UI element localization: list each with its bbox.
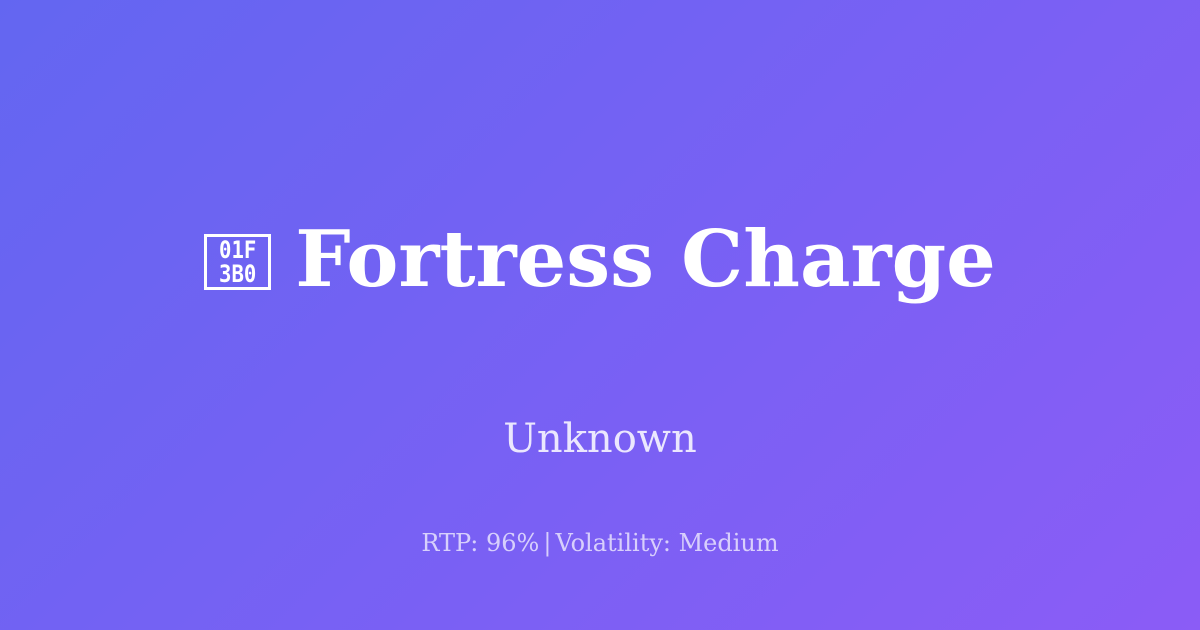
page-title: Fortress Charge <box>295 219 996 301</box>
slot-machine-icon: 01F 3B0 <box>204 234 271 290</box>
tofu-codepoint-upper: 01F <box>219 238 256 262</box>
game-stats-line: RTP: 96%|Volatility: Medium <box>0 529 1200 558</box>
og-share-card: 01F 3B0 Fortress Charge Unknown RTP: 96%… <box>0 0 1200 630</box>
tofu-codepoint-lower: 3B0 <box>219 262 256 286</box>
rtp-stat: RTP: 96% <box>421 529 539 557</box>
subtitle: Unknown <box>443 415 757 463</box>
volatility-stat: Volatility: Medium <box>555 529 778 557</box>
stats-separator: | <box>539 529 555 557</box>
title-row: 01F 3B0 Fortress Charge <box>164 167 1036 353</box>
